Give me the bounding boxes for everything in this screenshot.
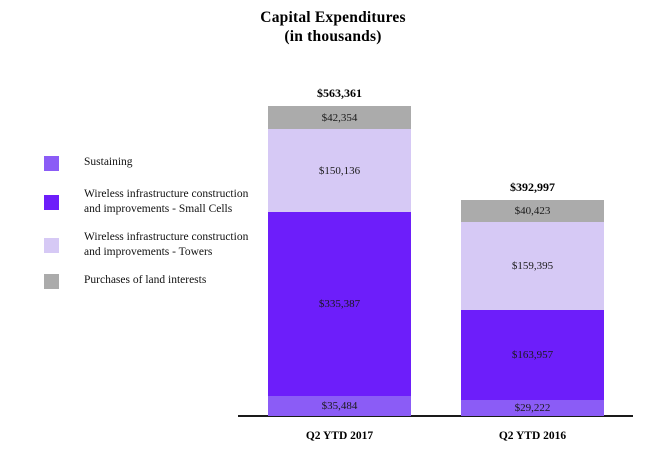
segment-value-label: $29,222 [515,402,551,414]
bar-segment[interactable]: $42,354 [268,106,411,129]
bar-segment[interactable]: $163,957 [461,310,604,400]
stacked-bar[interactable]: $29,222$163,957$159,395$40,423 [461,200,604,416]
bar-segment[interactable]: $29,222 [461,400,604,416]
segment-value-label: $163,957 [512,349,553,361]
bar-segment[interactable]: $150,136 [268,129,411,212]
segment-value-label: $42,354 [322,112,358,124]
stacked-bar[interactable]: $35,484$335,387$150,136$42,354 [268,106,411,416]
bar-segment[interactable]: $40,423 [461,200,604,222]
segment-value-label: $40,423 [515,205,551,217]
category-axis-label: Q2 YTD 2017 [268,430,411,442]
plot-area: $35,484$335,387$150,136$42,354$563,361Q2… [0,0,666,466]
bar-segment[interactable]: $35,484 [268,396,411,416]
bar-total-label: $392,997 [461,180,604,195]
segment-value-label: $150,136 [319,165,360,177]
category-axis-label: Q2 YTD 2016 [461,430,604,442]
segment-value-label: $159,395 [512,260,553,272]
bar-total-label: $563,361 [268,86,411,101]
capital-expenditures-chart: Capital Expenditures (in thousands) Sust… [0,0,666,466]
segment-value-label: $35,484 [322,400,358,412]
bar-segment[interactable]: $335,387 [268,212,411,397]
bar-segment[interactable]: $159,395 [461,222,604,310]
segment-value-label: $335,387 [319,298,360,310]
